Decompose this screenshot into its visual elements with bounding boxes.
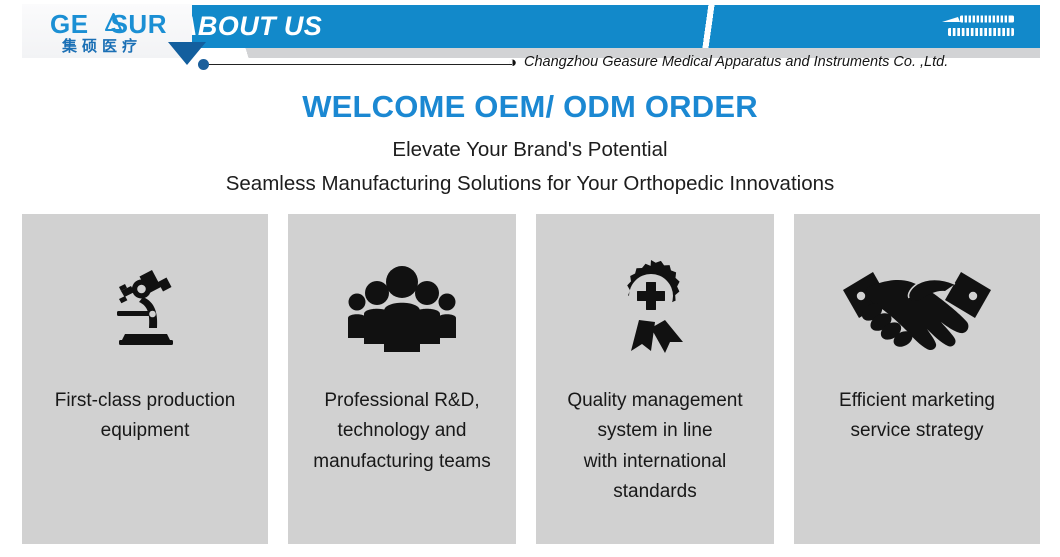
tagline-bullet-dot — [198, 59, 209, 70]
feature-card-text-line: system in line — [567, 416, 742, 446]
feature-card-text-line: Professional R&D, — [313, 386, 490, 416]
feature-card[interactable]: Quality management system in line with i… — [536, 214, 774, 544]
feature-card-text-line: First-class production — [55, 386, 236, 416]
hero-subtitle-line-2: Seamless Manufacturing Solutions for You… — [0, 170, 1060, 198]
feature-card-text-line: Efficient marketing — [839, 386, 995, 416]
about-us-page: ABOUT US — [0, 0, 1060, 557]
feature-card[interactable]: First-class production equipment — [22, 214, 268, 544]
feature-card-text-line: Quality management — [567, 386, 742, 416]
page-header: ABOUT US — [0, 0, 1060, 82]
banner-diagonal-slash — [694, 5, 724, 48]
page-title: WELCOME OEM/ ODM ORDER — [0, 90, 1060, 124]
microscope-icon — [95, 252, 195, 364]
company-logo[interactable]: GESUR 集硕医疗 — [22, 4, 192, 58]
quality-award-badge-icon — [607, 252, 703, 364]
feature-card-text-line: service strategy — [839, 416, 995, 446]
feature-card-text-line: with international — [567, 447, 742, 477]
feature-card-text: Professional R&D, technology and manufac… — [303, 386, 500, 477]
handshake-icon — [837, 252, 997, 364]
feature-card-text: Quality management system in line with i… — [557, 386, 752, 508]
hero-section: WELCOME OEM/ ODM ORDER Elevate Your Bran… — [0, 90, 1060, 197]
header-grey-band-notch — [236, 48, 258, 58]
hero-subtitle-line-1: Elevate Your Brand's Potential — [0, 136, 1060, 164]
water-drop-icon — [105, 13, 122, 32]
banner-title: ABOUT US — [178, 11, 322, 42]
feature-card-text: First-class production equipment — [45, 386, 246, 447]
feature-card-list: First-class production equipment — [22, 214, 1040, 544]
feature-card[interactable]: Efficient marketing service strategy — [794, 214, 1040, 544]
feature-card-text-line: standards — [567, 477, 742, 507]
tagline-rule — [207, 64, 512, 65]
feature-card-text-line: technology and — [313, 416, 490, 446]
feature-card-text-line: equipment — [55, 416, 236, 446]
bone-screw-implants-icon — [940, 13, 1020, 39]
feature-card-text: Efficient marketing service strategy — [829, 386, 1005, 447]
feature-card[interactable]: Professional R&D, technology and manufac… — [288, 214, 516, 544]
team-group-icon — [344, 252, 460, 364]
company-name: Changzhou Geasure Medical Apparatus and … — [524, 54, 948, 70]
feature-card-text-line: manufacturing teams — [313, 447, 490, 477]
half-circle-bullet-icon: ◑ — [508, 55, 517, 70]
logo-chinese-name: 集硕医疗 — [62, 35, 142, 56]
